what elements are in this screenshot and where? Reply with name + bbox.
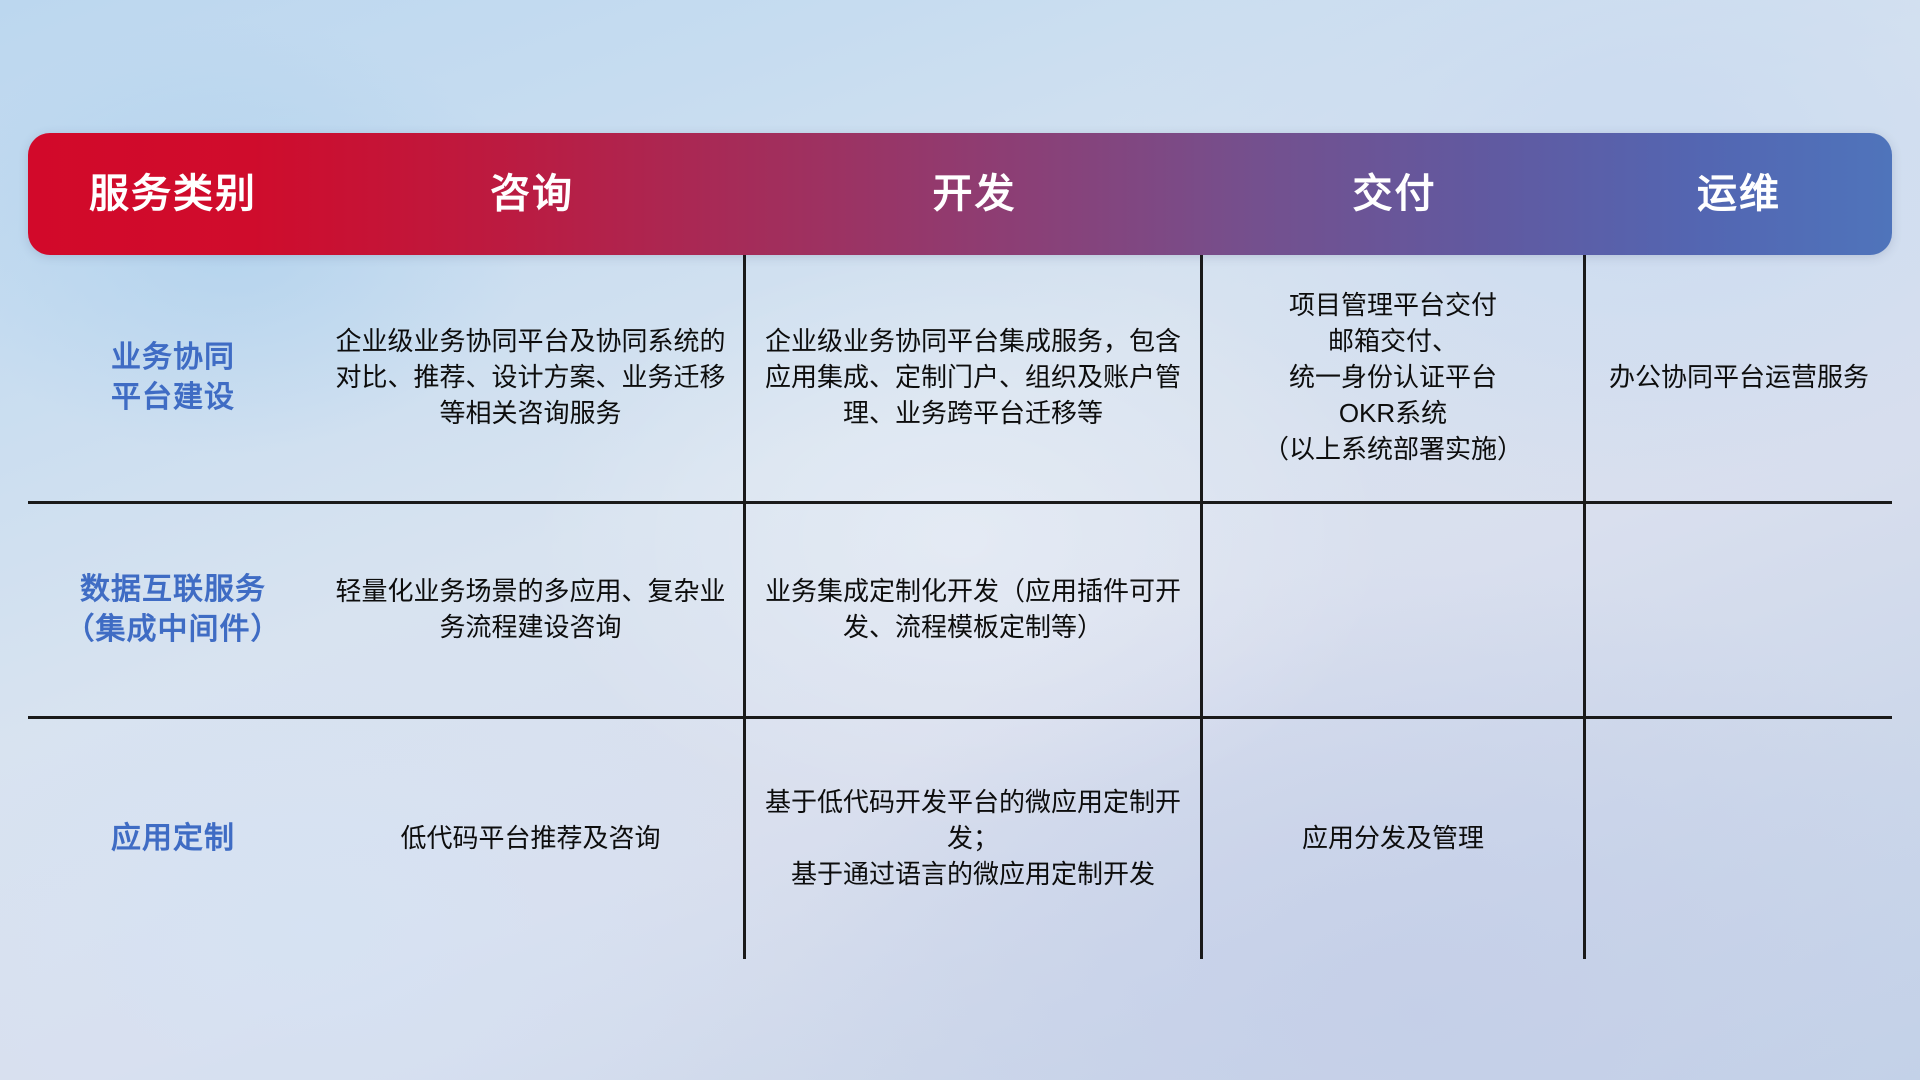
column-header-service-category: 服务类别 bbox=[28, 174, 318, 214]
row-operations-cell: 办公协同平台运营服务 bbox=[1586, 255, 1892, 501]
row-development-text: 基于低代码开发平台的微应用定制开发； 基于通过语言的微应用定制开发 bbox=[760, 785, 1186, 893]
row-category-label: 应用定制 bbox=[111, 819, 235, 859]
row-category-label: 数据互联服务 （集成中间件） bbox=[65, 570, 282, 649]
table-body: 业务协同 平台建设 企业级业务协同平台及协同系统的对比、推荐、设计方案、业务迁移… bbox=[28, 255, 1892, 959]
row-category-label: 业务协同 平台建设 bbox=[111, 338, 235, 417]
table-row: 数据互联服务 （集成中间件） 轻量化业务场景的多应用、复杂业务流程建设咨询 业务… bbox=[28, 504, 1892, 719]
table-row: 业务协同 平台建设 企业级业务协同平台及协同系统的对比、推荐、设计方案、业务迁移… bbox=[28, 255, 1892, 504]
column-header-delivery: 交付 bbox=[1203, 174, 1586, 214]
row-development-text: 企业级业务协同平台集成服务，包含应用集成、定制门户、组织及账户管理、业务跨平台迁… bbox=[760, 324, 1186, 432]
row-category-cell: 业务协同 平台建设 bbox=[28, 255, 318, 501]
row-consulting-cell: 低代码平台推荐及咨询 bbox=[318, 719, 746, 959]
row-delivery-text: 应用分发及管理 bbox=[1302, 821, 1484, 857]
row-development-cell: 企业级业务协同平台集成服务，包含应用集成、定制门户、组织及账户管理、业务跨平台迁… bbox=[746, 255, 1203, 501]
row-consulting-text: 轻量化业务场景的多应用、复杂业务流程建设咨询 bbox=[332, 574, 729, 646]
table-header-row: 服务类别 咨询 开发 交付 运维 bbox=[28, 133, 1892, 255]
row-development-cell: 业务集成定制化开发（应用插件可开发、流程模板定制等） bbox=[746, 504, 1203, 716]
service-category-table: 服务类别 咨询 开发 交付 运维 业务协同 平台建设 企业级业务协同平台及协同系… bbox=[28, 133, 1892, 953]
row-consulting-cell: 轻量化业务场景的多应用、复杂业务流程建设咨询 bbox=[318, 504, 746, 716]
table-row: 应用定制 低代码平台推荐及咨询 基于低代码开发平台的微应用定制开发； 基于通过语… bbox=[28, 719, 1892, 959]
row-delivery-cell: 项目管理平台交付 邮箱交付、 统一身份认证平台 OKR系统 （以上系统部署实施） bbox=[1203, 255, 1586, 501]
row-category-cell: 数据互联服务 （集成中间件） bbox=[28, 504, 318, 716]
row-operations-cell bbox=[1586, 719, 1892, 959]
column-header-operations: 运维 bbox=[1586, 174, 1892, 214]
row-consulting-cell: 企业级业务协同平台及协同系统的对比、推荐、设计方案、业务迁移等相关咨询服务 bbox=[318, 255, 746, 501]
row-category-cell: 应用定制 bbox=[28, 719, 318, 959]
row-operations-text: 办公协同平台运营服务 bbox=[1609, 360, 1869, 396]
column-header-consulting: 咨询 bbox=[318, 174, 746, 214]
row-delivery-text: 项目管理平台交付 邮箱交付、 统一身份认证平台 OKR系统 （以上系统部署实施） bbox=[1263, 288, 1523, 467]
row-delivery-cell bbox=[1203, 504, 1586, 716]
row-consulting-text: 低代码平台推荐及咨询 bbox=[400, 821, 660, 857]
row-delivery-cell: 应用分发及管理 bbox=[1203, 719, 1586, 959]
row-development-cell: 基于低代码开发平台的微应用定制开发； 基于通过语言的微应用定制开发 bbox=[746, 719, 1203, 959]
row-consulting-text: 企业级业务协同平台及协同系统的对比、推荐、设计方案、业务迁移等相关咨询服务 bbox=[332, 324, 729, 432]
column-header-development: 开发 bbox=[746, 174, 1203, 214]
row-operations-cell bbox=[1586, 504, 1892, 716]
row-development-text: 业务集成定制化开发（应用插件可开发、流程模板定制等） bbox=[760, 574, 1186, 646]
